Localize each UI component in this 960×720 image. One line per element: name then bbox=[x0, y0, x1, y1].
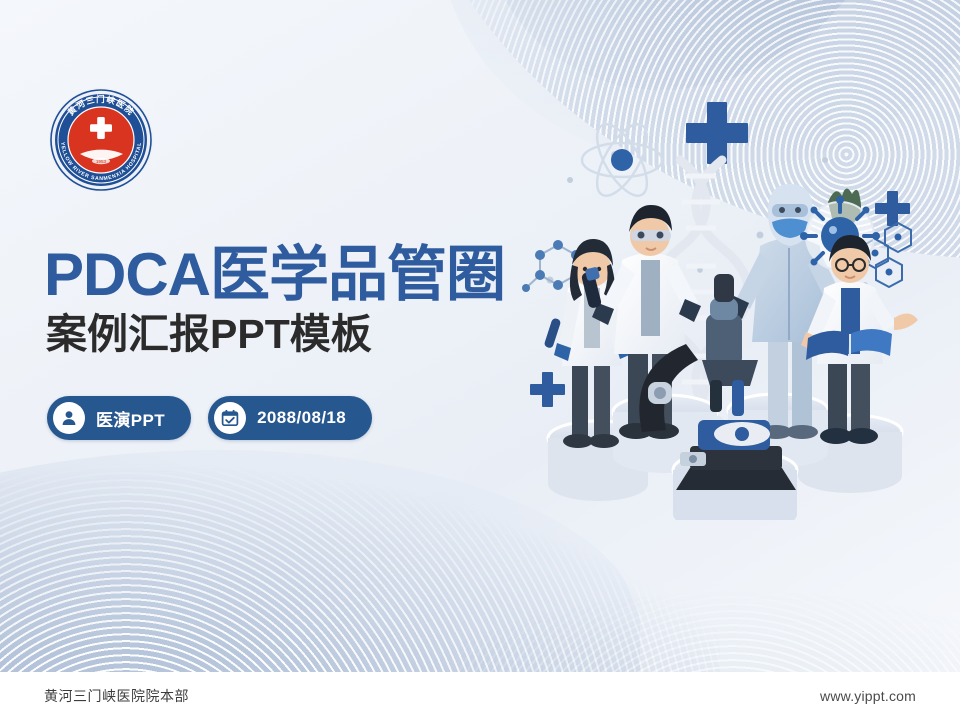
author-pill-label: 医演PPT bbox=[96, 406, 165, 431]
presentation-slide: 黄河三门峡医院 YELLOW RIVER SANMENXIA HOSPITAL … bbox=[0, 0, 960, 720]
slide-footer: 黄河三门峡医院院本部 www.yippt.com bbox=[0, 672, 960, 720]
title-block: PDCA医学品管圈 案例汇报PPT模板 bbox=[44, 244, 505, 357]
medical-research-team-illustration bbox=[510, 60, 960, 520]
date-pill-label: 2088/08/18 bbox=[257, 408, 346, 428]
person-icon bbox=[53, 402, 85, 434]
hospital-logo: 黄河三门峡医院 YELLOW RIVER SANMENXIA HOSPITAL … bbox=[47, 86, 155, 194]
atom-nucleus bbox=[611, 149, 633, 171]
meta-pill-row: 医演PPT 2088/08/18 bbox=[47, 396, 372, 440]
medical-cross-small-left bbox=[530, 372, 565, 407]
page-subtitle: 案例汇报PPT模板 bbox=[46, 312, 505, 357]
footer-organization: 黄河三门峡医院院本部 bbox=[44, 686, 189, 706]
svg-text:1953: 1953 bbox=[96, 159, 107, 164]
medical-cross-small-right bbox=[875, 191, 910, 226]
calendar-icon bbox=[214, 402, 246, 434]
footer-website: www.yippt.com bbox=[820, 688, 916, 704]
page-title: PDCA医学品管圈 bbox=[44, 244, 505, 306]
medical-cross-large bbox=[686, 102, 748, 164]
date-pill[interactable]: 2088/08/18 bbox=[208, 396, 372, 440]
author-pill[interactable]: 医演PPT bbox=[47, 396, 191, 440]
